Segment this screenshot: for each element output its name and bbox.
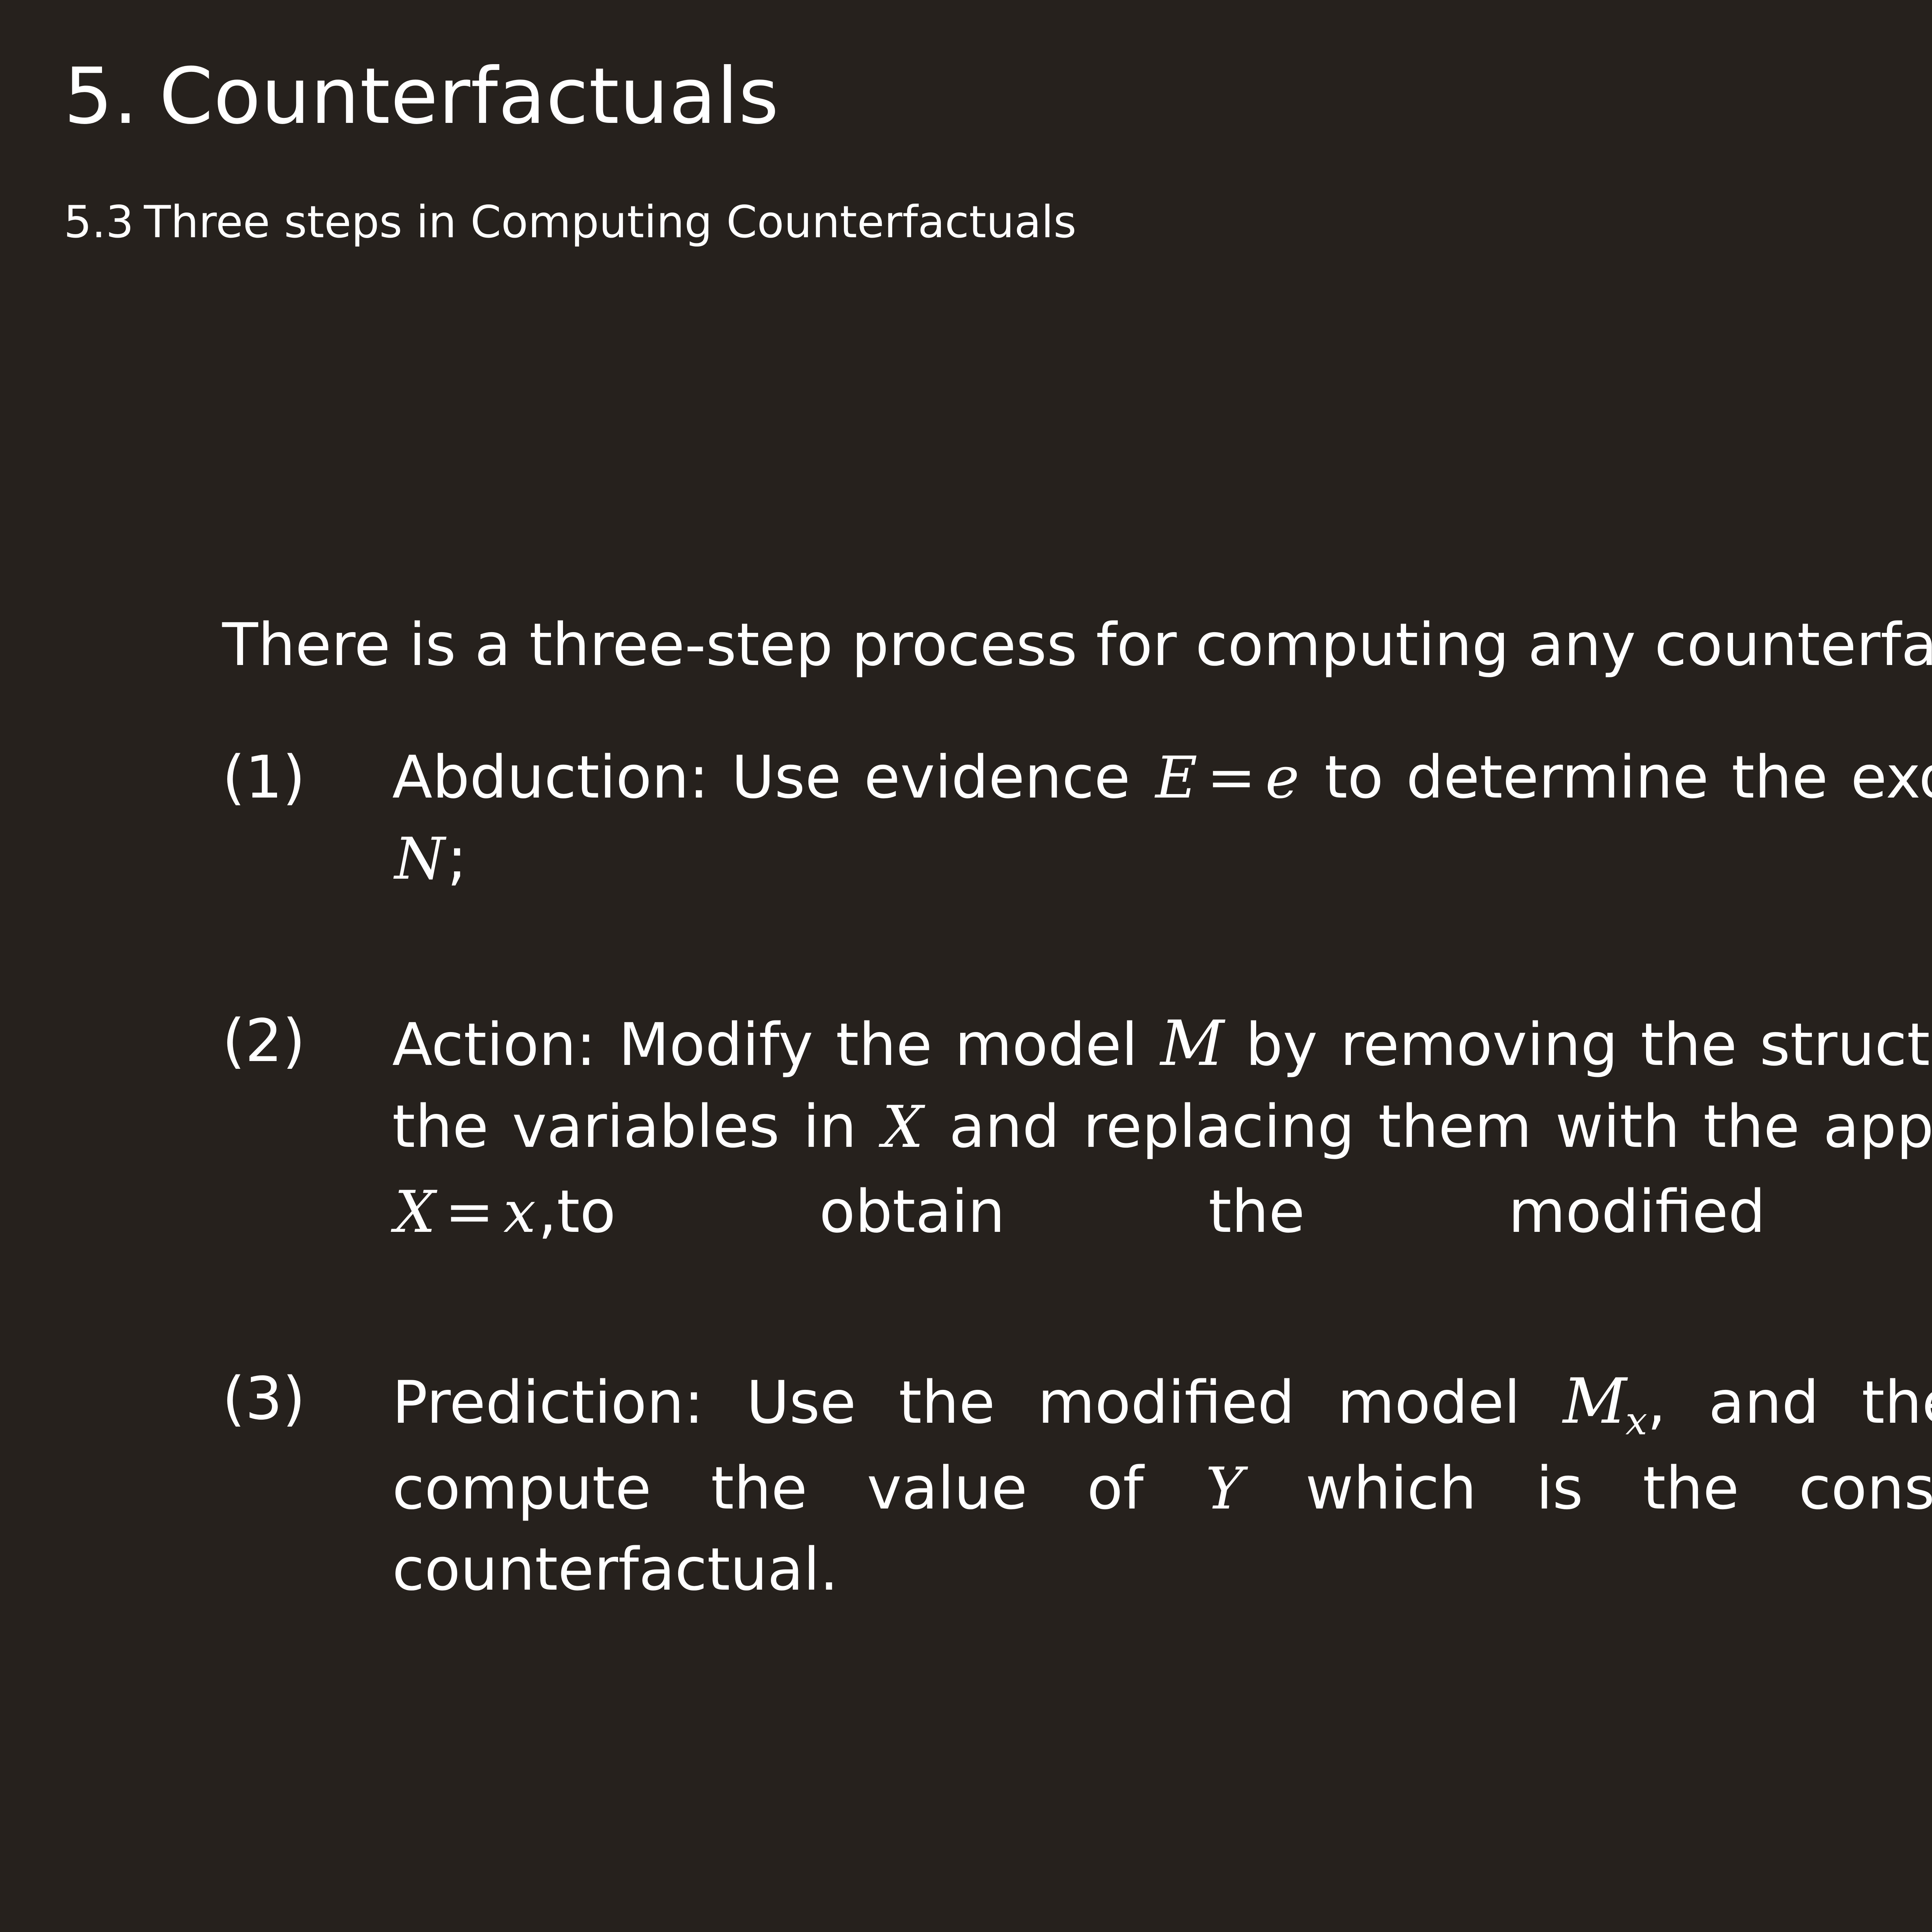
section-title: Counterfactuals (159, 51, 779, 141)
step2-text-4: ,to obtain the modified model (538, 1177, 1932, 1246)
list-item: (2) Action: Modify the model M by removi… (222, 1000, 1932, 1338)
page-subtitle: 5.3Three steps in Computing Counterfactu… (64, 200, 1077, 244)
slide-body: There is a three-step process for comput… (0, 553, 1932, 1691)
math-exogenous-var: N (392, 826, 447, 893)
math-equals: = (1200, 743, 1263, 811)
step1-text-2: to determine the exogenous variables (1302, 743, 1932, 811)
step1-label: Abduction: (392, 743, 709, 811)
math-intervention-var-2: X (392, 1179, 438, 1246)
math-intervention-var: X (880, 1094, 926, 1161)
step1-text-1: Use evidence (709, 743, 1153, 811)
step1-text-3: ; (447, 824, 467, 893)
list-item-text: Prediction: Use the modified model Mx, a… (392, 1368, 1932, 1685)
math-modified-model-subscript: x (1626, 1398, 1648, 1444)
step3-text-1: Use the modified model (704, 1368, 1563, 1437)
list-item-text: Abduction: Use evidence E=e to determine… (392, 743, 1932, 974)
beamer-slide: 5.Counterfactuals 5.3Three steps in Comp… (0, 0, 1932, 1932)
list-item-marker: (2) (222, 1000, 377, 1082)
math-model-symbol: M (1160, 1007, 1223, 1080)
math-equals: = (438, 1177, 501, 1246)
list-item: (1) Abduction: Use evidence E=e to deter… (222, 737, 1932, 980)
steps-list: (1) Abduction: Use evidence E=e to deter… (0, 737, 1932, 1691)
math-intervention-value: x (501, 1179, 538, 1246)
math-evidence-value: e (1263, 745, 1302, 811)
math-evidence-var: E (1153, 745, 1200, 811)
step2-label: Action: (392, 1010, 596, 1079)
math-modified-model-symbol: M (1563, 1365, 1626, 1437)
step3-text-2: , and the value of (1647, 1368, 1932, 1437)
page-title: 5.Counterfactuals (64, 58, 779, 135)
lead-paragraph: There is a three-step process for comput… (222, 611, 1932, 678)
slide-footer: 56 / 64 (0, 1928, 1932, 1932)
section-number: 5. (64, 51, 138, 141)
step2-text-1: Modify the model (596, 1010, 1160, 1079)
subsection-title: Three steps in Computing Counterfactuals (144, 196, 1076, 248)
step2-text-3: and replacing them with the appropriate … (926, 1092, 1932, 1161)
list-item: (3) Prediction: Use the modified model M… (222, 1358, 1932, 1691)
list-item-marker: (1) (222, 737, 377, 818)
slide-header: 5.Counterfactuals 5.3Three steps in Comp… (0, 0, 1932, 301)
step3-label: Prediction: (392, 1368, 704, 1437)
subsection-number: 5.3 (64, 196, 134, 248)
math-outcome-var: Y (1203, 1456, 1246, 1522)
list-item-marker: (3) (222, 1358, 377, 1439)
list-item-text: Action: Modify the model M by removing t… (392, 1010, 1932, 1332)
